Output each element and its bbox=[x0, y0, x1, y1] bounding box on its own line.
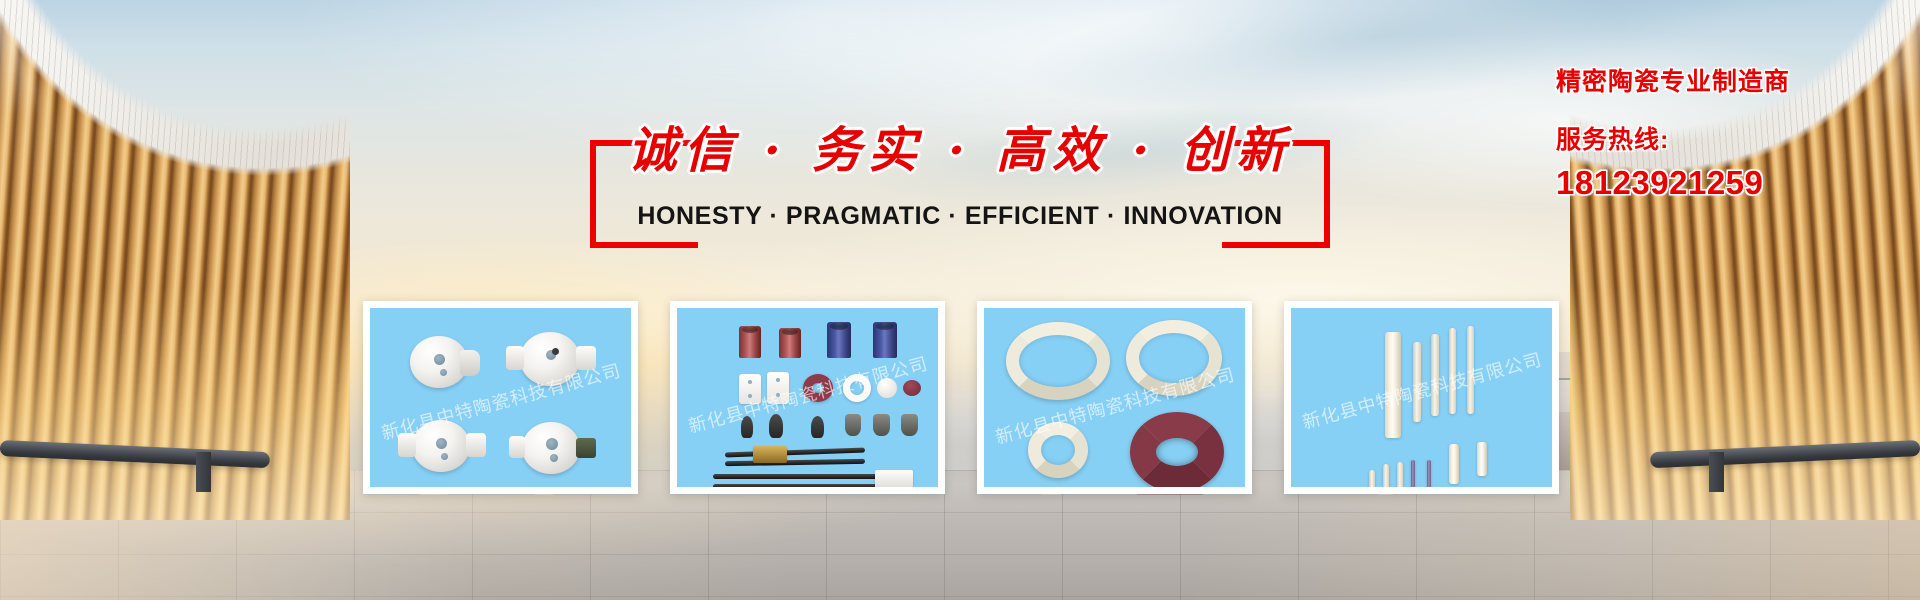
watermark-text: 新化县中特陶瓷科技有限公司 bbox=[1299, 346, 1544, 435]
product-panel-components[interactable]: 新化县中特陶瓷科技有限公司 bbox=[670, 301, 945, 494]
ceramic-tube-red bbox=[779, 328, 801, 358]
ceramic-lamp-holder bbox=[522, 422, 580, 474]
product-panel-lamp-holders[interactable]: 新化县中特陶瓷科技有限公司 bbox=[363, 301, 638, 494]
contact-block: 精密陶瓷专业制造商 服务热线: 18123921259 bbox=[1556, 62, 1906, 202]
ceramic-rod-violet bbox=[1411, 460, 1415, 487]
slogan-english: HONESTY · PRAGMATIC · EFFICIENT · INNOVA… bbox=[590, 202, 1330, 231]
metal-clip bbox=[873, 414, 890, 436]
ceramic-rod bbox=[1385, 332, 1401, 438]
ceramic-cap-white bbox=[877, 378, 897, 398]
ceramic-lamp-holder bbox=[412, 420, 470, 472]
ceramic-rod-mini bbox=[1383, 464, 1389, 487]
ceramic-rod bbox=[1449, 328, 1456, 414]
ceramic-ring-maroon-flat bbox=[1130, 412, 1224, 487]
metal-clip bbox=[901, 414, 918, 436]
ceramic-ring-white bbox=[843, 374, 871, 402]
white-connector-block bbox=[875, 470, 913, 487]
ceramic-rod-mini bbox=[1369, 470, 1375, 487]
ceramic-tube-blue bbox=[827, 322, 851, 358]
promotional-banner: 诚信 · 务实 · 高效 · 创新 HONESTY · PRAGMATIC · … bbox=[0, 0, 1920, 600]
metal-clip bbox=[769, 414, 783, 438]
connector-wire bbox=[713, 474, 883, 479]
handrail-post-left bbox=[196, 452, 211, 492]
brass-connector bbox=[753, 446, 787, 463]
metal-clip bbox=[811, 416, 824, 438]
slogan-block: 诚信 · 务实 · 高效 · 创新 HONESTY · PRAGMATIC · … bbox=[590, 140, 1330, 250]
metal-clip bbox=[845, 414, 861, 436]
company-tagline: 精密陶瓷专业制造商 bbox=[1556, 62, 1906, 98]
ceramic-plate bbox=[739, 374, 761, 404]
ceramic-plate bbox=[767, 372, 789, 404]
ceramic-cap-maroon bbox=[903, 380, 921, 396]
ceramic-ring-small bbox=[1028, 422, 1088, 478]
ceramic-rod-mini bbox=[1397, 462, 1403, 487]
ceramic-tube-blue bbox=[873, 322, 897, 358]
ceramic-ring-large bbox=[1126, 320, 1222, 396]
ceramic-ring-maroon bbox=[803, 374, 833, 402]
ceramic-rod bbox=[1467, 326, 1474, 414]
ceramic-ring-large bbox=[1006, 322, 1110, 400]
connector-wire bbox=[713, 484, 883, 487]
product-panel-rods[interactable]: 新化县中特陶瓷科技有限公司 bbox=[1284, 301, 1559, 494]
ceramic-rod-violet bbox=[1427, 460, 1431, 487]
ceramic-tube-red bbox=[739, 326, 761, 358]
handrail-post-right bbox=[1709, 452, 1724, 492]
product-panel-rings[interactable]: 新化县中特陶瓷科技有限公司 bbox=[977, 301, 1252, 494]
ceramic-rod bbox=[1413, 342, 1421, 422]
connector-wire bbox=[725, 459, 865, 466]
hotline-phone-number[interactable]: 18123921259 bbox=[1556, 164, 1906, 202]
ceramic-rod-short bbox=[1449, 444, 1459, 484]
slogan-chinese: 诚信 · 务实 · 高效 · 创新 bbox=[590, 126, 1330, 175]
hotline-label: 服务热线: bbox=[1556, 120, 1906, 156]
ceramic-rod-short bbox=[1477, 442, 1487, 476]
connector-wire bbox=[725, 448, 865, 458]
ceramic-lamp-holder bbox=[520, 332, 580, 386]
ceramic-lamp-holder bbox=[410, 336, 468, 388]
ceramic-rod bbox=[1431, 334, 1439, 416]
metal-clip bbox=[741, 416, 753, 438]
